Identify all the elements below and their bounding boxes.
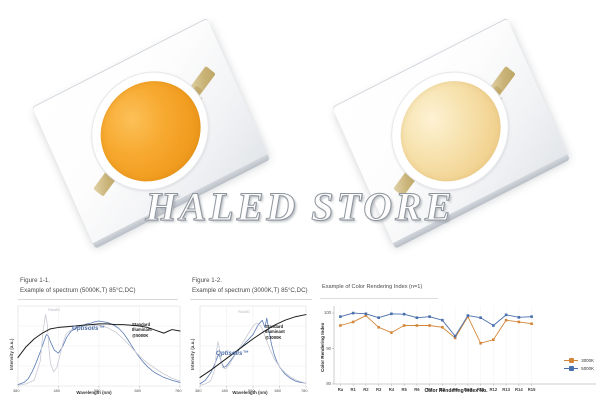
std-line-2: Illuminant xyxy=(265,329,285,334)
figure-1-1-number: Figure 1-1. xyxy=(20,277,50,284)
spectrum-3000k-plot: Intensity (a.u.) Wavelength (nm) 3804805… xyxy=(186,302,312,400)
std-line-1: Standard xyxy=(265,324,283,329)
xtick: 680 xyxy=(275,388,282,393)
xtick: 380 xyxy=(13,388,20,393)
spectrum-3000k-brand-annotation: Optisolis™ xyxy=(216,350,249,357)
led-photo-band: HALED STORE xyxy=(0,0,600,268)
std-line-2: Illuminant xyxy=(132,327,152,332)
led-photo-3000k xyxy=(300,0,600,268)
ceramic-substrate xyxy=(332,18,568,244)
spectrum-5000k-svg xyxy=(4,302,186,400)
std-line-1: Standard xyxy=(132,322,150,327)
figure-1-1-rule xyxy=(18,299,178,300)
spectrum-5000k-standard-annotation: Standard Illuminant @5000K xyxy=(132,322,152,338)
xtick: 480 xyxy=(222,388,229,393)
legend-swatch-5000k xyxy=(564,368,578,370)
figure-1-2-number: Figure 1-2. xyxy=(192,277,222,284)
spectrum-5000k-ra-annotation: Ra≥80 xyxy=(48,307,60,312)
product-page: HALED STORE Figure 1-1. Example of spect… xyxy=(0,0,600,400)
std-line-3: @3000K xyxy=(265,335,281,340)
spectrum-5000k-brand-annotation: Optisolis™ xyxy=(72,325,105,332)
legend-label-3000k: 3000K xyxy=(581,358,594,363)
cri-svg xyxy=(312,300,600,400)
legend-item-5000k[interactable]: 5000K xyxy=(564,366,594,371)
xtick: 680 xyxy=(135,388,142,393)
spectrum-3000k-ylabel: Intensity (a.u.) xyxy=(190,338,195,370)
legend-swatch-3000k xyxy=(564,360,578,362)
spectrum-5000k-ylabel: Intensity (a.u.) xyxy=(9,338,14,370)
xtick: 380 xyxy=(195,388,202,393)
spectrum-3000k-standard-annotation: Standard Illuminant @3000K xyxy=(265,324,285,340)
legend-label-5000k: 5000K xyxy=(581,366,594,371)
legend-item-3000k[interactable]: 3000K xyxy=(564,358,594,363)
ceramic-substrate xyxy=(32,18,268,244)
spectrum-3000k-ra-annotation: Ra≥80 xyxy=(238,309,250,314)
cri-legend: 3000K 5000K xyxy=(564,358,594,374)
figure-1-1-text: Example of spectrum (5000K,T) 85°C,DC) xyxy=(20,286,136,296)
led-photo-5000k xyxy=(0,0,300,268)
cri-title: Example of Color Rendering Index (n=1) xyxy=(322,284,422,290)
xtick: 780 xyxy=(175,388,182,393)
xtick: 480 xyxy=(54,388,61,393)
cri-ytick: 80 xyxy=(319,381,331,386)
xtick: 580 xyxy=(248,388,255,393)
charts-band: Figure 1-1. Example of spectrum (5000K,T… xyxy=(0,268,600,400)
led-stage xyxy=(300,0,600,268)
led-stage xyxy=(0,0,300,268)
spectrum-5000k-plot: Intensity (a.u.) Wavelength (nm) 3804805… xyxy=(4,302,186,400)
figure-1-1-caption: Figure 1-1. Example of spectrum (5000K,T… xyxy=(20,276,136,295)
cri-ylabel: Color Rendering Index xyxy=(320,323,325,372)
cri-ytick: 100 xyxy=(319,310,331,315)
spectrum-3000k-svg xyxy=(186,302,312,400)
cri-xlabel: Color Rendering Index No. xyxy=(312,388,600,394)
cri-rule xyxy=(320,298,438,299)
figure-1-1-panel: Figure 1-1. Example of spectrum (5000K,T… xyxy=(4,268,186,400)
figure-1-2-caption: Figure 1-2. Example of spectrum (3000K,T… xyxy=(192,276,308,295)
figure-1-2-rule xyxy=(190,299,312,300)
cri-panel: Example of Color Rendering Index (n=1) 8… xyxy=(312,268,600,400)
std-line-3: @5000K xyxy=(132,333,148,338)
figure-1-2-text: Example of spectrum (3000K,T) 85°C,DC) xyxy=(192,286,308,296)
cri-plot: 8090100 RaR1R2R3R4R5R6R7R8R9R10R11R12R13… xyxy=(312,300,600,400)
xtick: 580 xyxy=(94,388,101,393)
xtick: 780 xyxy=(301,388,308,393)
figure-1-2-panel: Figure 1-2. Example of spectrum (3000K,T… xyxy=(186,268,312,400)
